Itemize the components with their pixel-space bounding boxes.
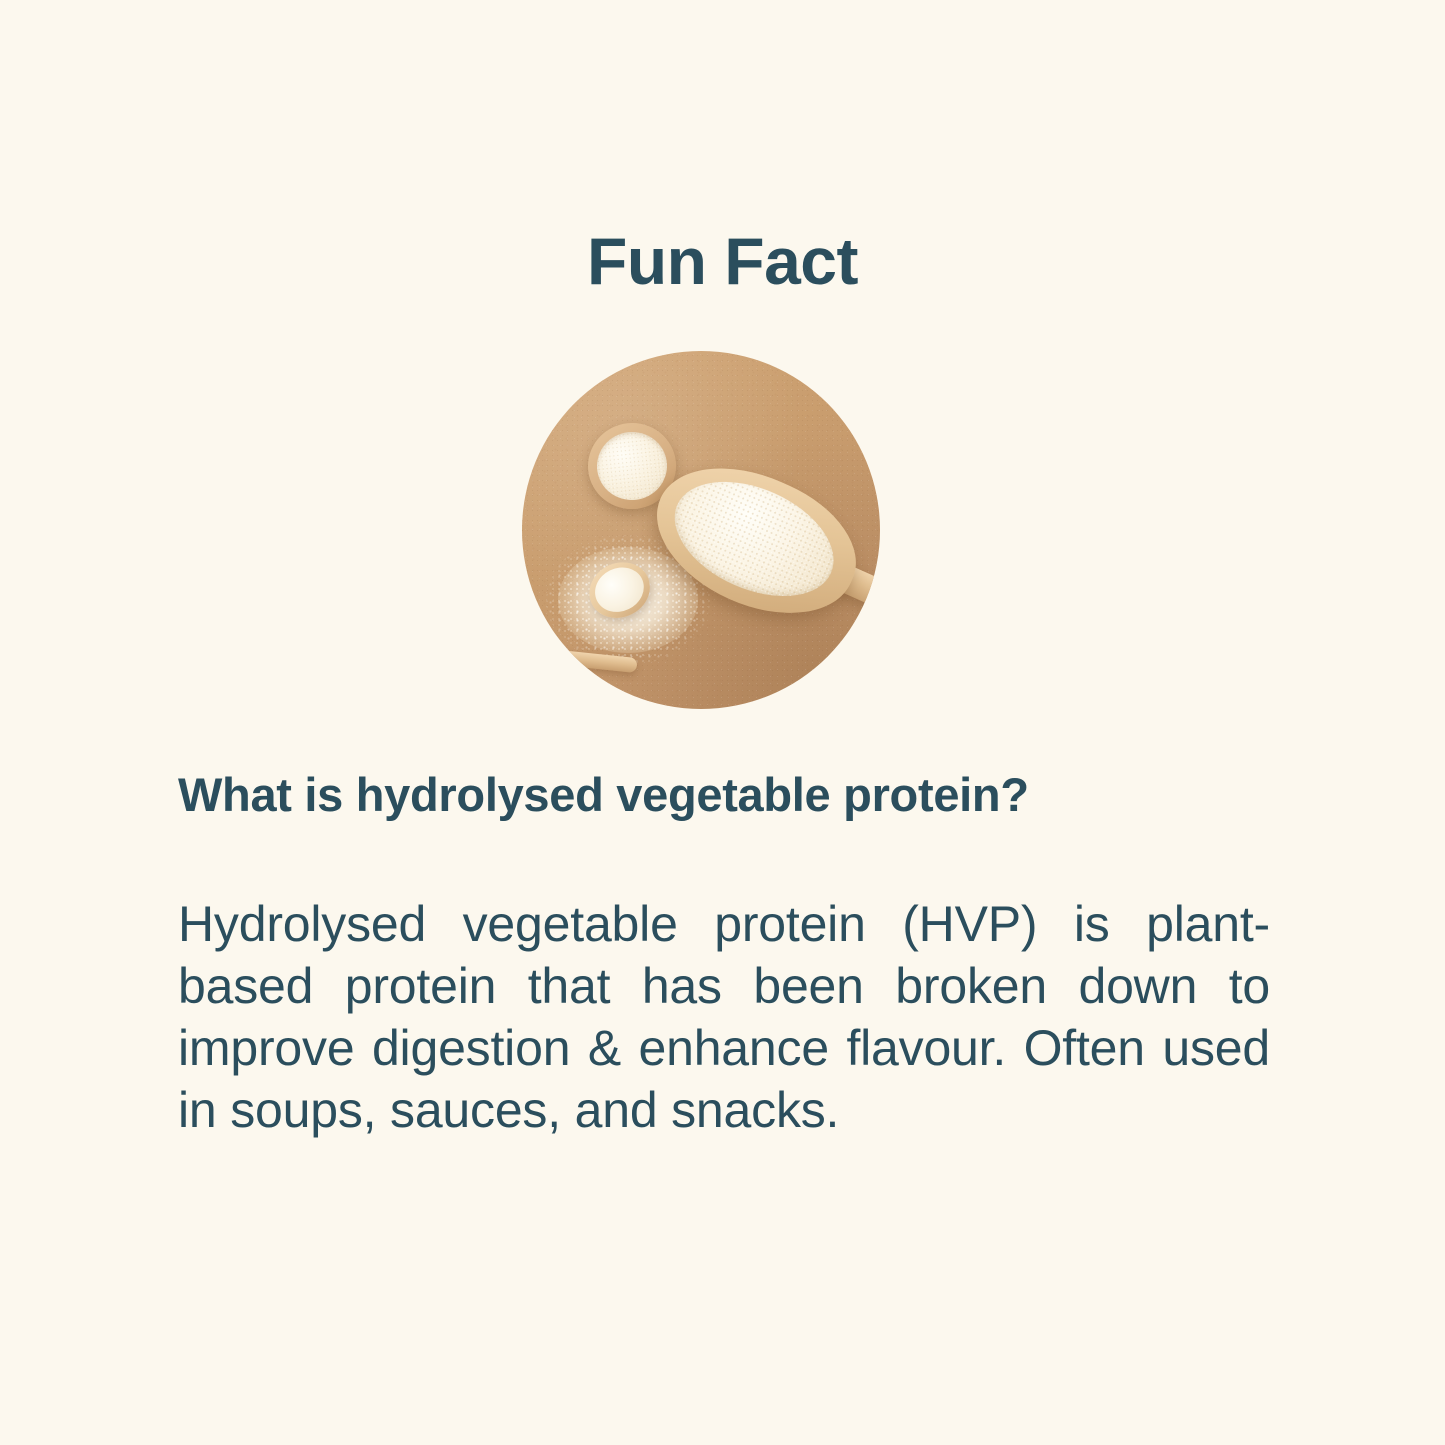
small-spoon-powder [588, 559, 652, 620]
question-heading: What is hydrolysed vegetable protein? [178, 768, 1274, 823]
kraft-paper-background [522, 351, 880, 709]
bowl-powder [594, 429, 671, 504]
hero-image-circle [522, 351, 880, 709]
page-title: Fun Fact [0, 228, 1445, 294]
body-paragraph: Hydrolysed vegetable protein (HVP) is pl… [178, 893, 1270, 1141]
small-spoon-handle [541, 648, 638, 673]
small-spoon-bowl [580, 552, 659, 628]
fun-fact-card: Fun Fact What is hydrolysed vegetab [0, 0, 1445, 1445]
